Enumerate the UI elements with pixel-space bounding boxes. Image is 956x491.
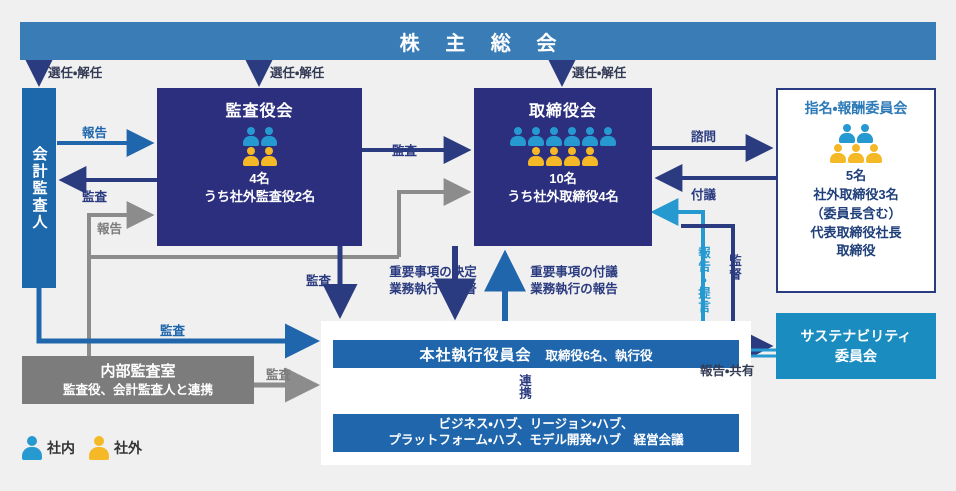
legend: 社内 社外 bbox=[22, 436, 142, 460]
internal-audit-office-box: 内部監査室 監査役、会計監査人と連携 bbox=[22, 356, 254, 404]
nomination-committee-line3: 代表取締役社長 bbox=[810, 224, 901, 243]
label-report-gray: 報告 bbox=[97, 218, 122, 237]
person-internal-icon bbox=[564, 127, 580, 146]
audit-board-external-row bbox=[243, 147, 277, 166]
label-audit-to-executive: 監査 bbox=[160, 320, 185, 339]
audit-board-count: 4名 bbox=[249, 170, 269, 188]
board-detail: うち社外取締役4名 bbox=[507, 188, 618, 206]
audit-supervisory-board-box: 監査役会 4名 うち社外監査役2名 bbox=[157, 88, 362, 246]
internal-audit-detail: 監査役、会計監査人と連携 bbox=[63, 382, 213, 398]
board-count: 10名 bbox=[549, 170, 576, 188]
label-decision-line2: 業務執行の監督 bbox=[389, 282, 477, 296]
person-external-icon bbox=[866, 144, 882, 163]
arrow-board-to-audit-board-gray bbox=[399, 192, 466, 257]
nomination-committee-line1: 社外取締役3名 bbox=[813, 186, 898, 205]
nomination-internal-row bbox=[839, 124, 873, 143]
person-internal-icon bbox=[582, 127, 598, 146]
sustainability-committee-line1: サステナビリティ bbox=[801, 326, 912, 346]
label-election-left: 選任・解任 bbox=[48, 62, 102, 81]
person-external-icon bbox=[528, 147, 544, 166]
sustainability-committee-box: サステナビリティ 委員会 bbox=[776, 313, 936, 379]
sustainability-committee-line2: 委員会 bbox=[835, 346, 877, 366]
label-audit-vertical-down: 監査 bbox=[306, 270, 331, 289]
person-external-icon bbox=[830, 144, 846, 163]
audit-board-detail: うち社外監査役2名 bbox=[204, 188, 315, 206]
label-link: 連携 bbox=[515, 374, 534, 399]
label-submission-line1: 重要事項の付議 bbox=[530, 265, 618, 279]
audit-board-title: 監査役会 bbox=[225, 97, 293, 121]
nomination-compensation-committee-box: 指名・報酬委員会 5名 社外取締役3名 （委員長含む） 代表取締役社長 取締役 bbox=[776, 88, 936, 293]
label-supervise: 監督 bbox=[725, 254, 744, 281]
board-of-directors-box: 取締役会 10名 うち社外取締役4名 bbox=[474, 88, 652, 246]
hub-management-meeting-bar: ビジネス・ハブ、リージョン・ハブ、 プラットフォーム・ハブ、モデル開発・ハブ 経… bbox=[333, 414, 739, 452]
legend-internal-label: 社内 bbox=[47, 438, 75, 458]
nomination-committee-title: 指名・報酬委員会 bbox=[805, 98, 908, 118]
person-internal-icon bbox=[261, 127, 277, 146]
head-office-executive-detail: 取締役6名、執行役 bbox=[546, 345, 653, 364]
label-decision-line1: 重要事項の決定 bbox=[389, 265, 477, 279]
person-internal-icon bbox=[22, 436, 42, 460]
board-people bbox=[510, 127, 616, 166]
person-external-icon bbox=[89, 436, 109, 460]
audit-board-people bbox=[243, 127, 277, 166]
internal-audit-title: 内部監査室 bbox=[100, 362, 175, 382]
label-election-right: 選任・解任 bbox=[572, 62, 626, 81]
person-external-icon bbox=[564, 147, 580, 166]
label-report-share: 報告・共有 bbox=[700, 360, 754, 379]
label-consult: 諮問 bbox=[691, 126, 716, 145]
label-report-proposal: 報告・提言 bbox=[694, 246, 713, 314]
accounting-auditor-box: 会計監査人 bbox=[22, 88, 56, 288]
legend-external: 社外 bbox=[89, 436, 142, 460]
hub-line1: ビジネス・ハブ、リージョン・ハブ、 bbox=[438, 417, 633, 433]
nomination-external-row bbox=[830, 144, 882, 163]
audit-board-internal-row bbox=[243, 127, 277, 146]
legend-external-label: 社外 bbox=[114, 438, 142, 458]
person-external-icon bbox=[261, 147, 277, 166]
person-internal-icon bbox=[528, 127, 544, 146]
label-submit: 付議 bbox=[691, 184, 716, 203]
person-external-icon bbox=[243, 147, 259, 166]
board-title: 取締役会 bbox=[529, 97, 597, 121]
label-election-mid: 選任・解任 bbox=[270, 62, 324, 81]
nomination-committee-count: 5名 bbox=[846, 167, 866, 186]
board-external-row bbox=[528, 147, 598, 166]
shareholders-meeting-title: 株 主 総 会 bbox=[390, 27, 567, 56]
label-audit-board-to-board: 監査 bbox=[392, 140, 417, 159]
person-internal-icon bbox=[546, 127, 562, 146]
nomination-committee-line2: （委員長含む） bbox=[810, 205, 901, 224]
label-submission-line2: 業務執行の報告 bbox=[530, 282, 618, 296]
person-internal-icon bbox=[839, 124, 855, 143]
nomination-committee-line4: 取締役 bbox=[836, 242, 875, 261]
label-internal-audit-to-executive: 監査 bbox=[266, 364, 291, 383]
person-external-icon bbox=[848, 144, 864, 163]
label-submission-report: 重要事項の付議 業務執行の報告 bbox=[519, 264, 629, 298]
governance-diagram: 株 主 総 会 会計監査人 監査役会 4名 うち社外監査役2名 取締役会 bbox=[0, 0, 956, 491]
person-internal-icon bbox=[857, 124, 873, 143]
person-external-icon bbox=[582, 147, 598, 166]
shareholders-meeting-box: 株 主 総 会 bbox=[20, 22, 936, 60]
head-office-executive-bar: 本社執行役員会 取締役6名、執行役 bbox=[333, 340, 739, 368]
nomination-committee-people bbox=[830, 124, 882, 163]
person-external-icon bbox=[546, 147, 562, 166]
accounting-auditor-title: 会計監査人 bbox=[29, 146, 50, 231]
label-audit-to-accounting-auditor: 監査 bbox=[82, 186, 107, 205]
person-internal-icon bbox=[600, 127, 616, 146]
person-internal-icon bbox=[243, 127, 259, 146]
board-internal-row bbox=[510, 127, 616, 146]
label-decision-supervision: 重要事項の決定 業務執行の監督 bbox=[378, 264, 488, 298]
person-internal-icon bbox=[510, 127, 526, 146]
label-report-to-audit-board: 報告 bbox=[82, 122, 107, 141]
hub-line2: プラットフォーム・ハブ、モデル開発・ハブ 経営会議 bbox=[388, 433, 683, 449]
head-office-executive-title: 本社執行役員会 bbox=[420, 344, 532, 365]
legend-internal: 社内 bbox=[22, 436, 75, 460]
